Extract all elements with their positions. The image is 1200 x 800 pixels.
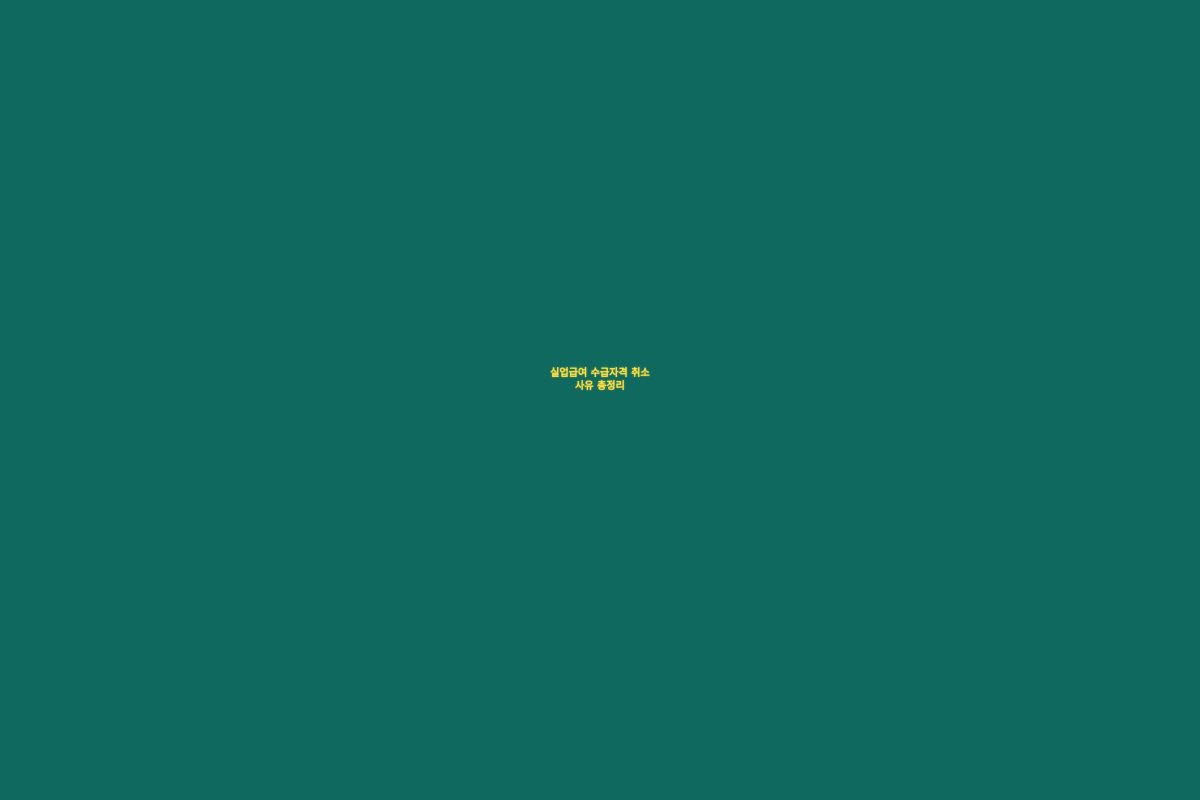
title-line-2: 사유 총정리 xyxy=(0,381,1200,394)
page-title: 실업급여 수급자격 취소 사유 총정리 xyxy=(0,368,1200,393)
title-card: 실업급여 수급자격 취소 사유 총정리 xyxy=(0,0,1200,800)
title-line-1: 실업급여 수급자격 취소 xyxy=(0,368,1200,381)
